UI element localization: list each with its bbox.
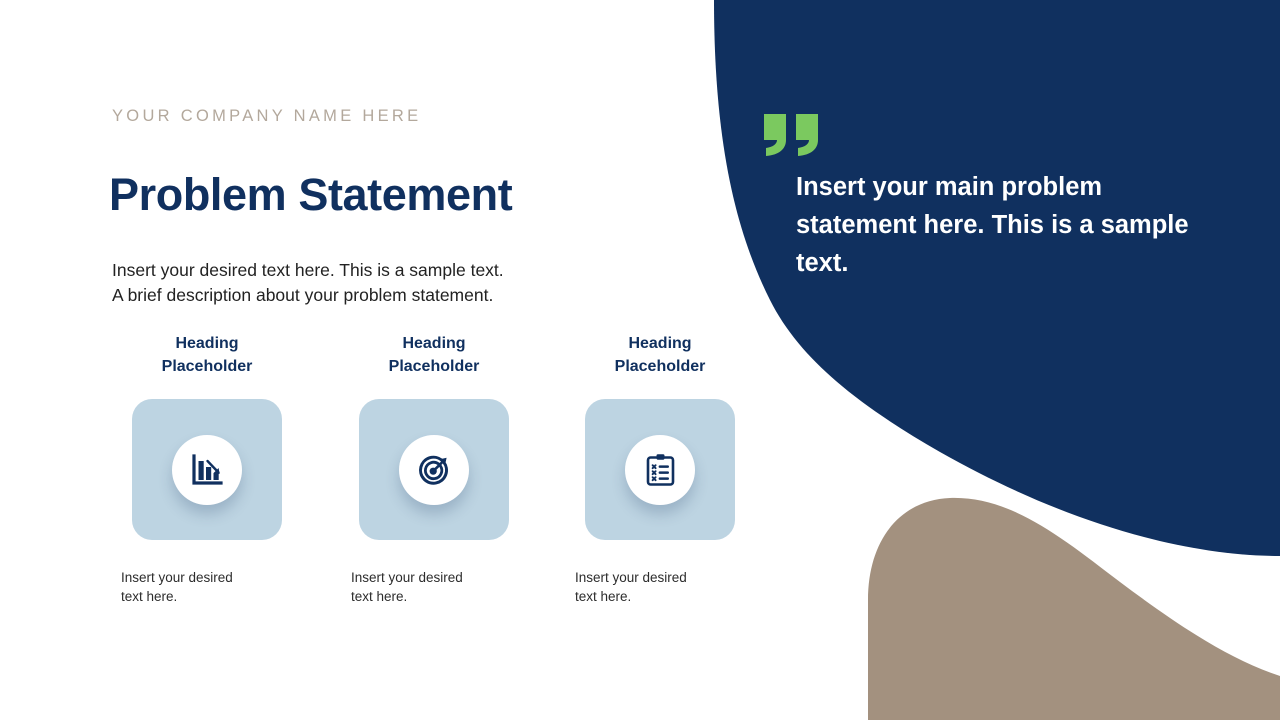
feature-heading: Heading Placeholder [572, 332, 748, 378]
lead-line-2: A brief description about your problem s… [112, 283, 632, 309]
feature-caption-line-1: Insert your desired [351, 568, 501, 587]
declining-bar-chart-icon [190, 453, 224, 487]
feature-caption-line-2: text here. [121, 587, 271, 606]
lead-line-1: Insert your desired text here. This is a… [112, 258, 632, 284]
feature-heading-line-1: Heading [628, 335, 691, 352]
page-title: Problem Statement [109, 169, 512, 221]
open-quote-icon [760, 110, 1190, 158]
feature-caption-line-1: Insert your desired [121, 568, 271, 587]
slide-canvas: YOUR COMPANY NAME HERE Problem Statement… [0, 0, 1280, 720]
quote-text: Insert your main problem statement here.… [796, 168, 1196, 282]
feature-row: Heading Placeholder [112, 332, 732, 612]
feature-card[interactable] [585, 399, 735, 540]
quote-panel: Insert your main problem statement here.… [760, 110, 1190, 282]
feature-heading-line-2: Placeholder [389, 358, 480, 375]
feature-item[interactable]: Heading Placeholder [339, 332, 529, 606]
feature-heading: Heading Placeholder [127, 332, 287, 378]
feature-caption-line-1: Insert your desired [575, 568, 725, 587]
icon-bubble [625, 435, 695, 505]
feature-caption-line-2: text here. [351, 587, 501, 606]
lead-paragraph: Insert your desired text here. This is a… [112, 258, 632, 309]
feature-heading: Heading Placeholder [354, 332, 514, 378]
target-arrow-icon [417, 453, 451, 487]
feature-caption: Insert your desired text here. [121, 568, 271, 606]
feature-heading-line-2: Placeholder [162, 358, 253, 375]
feature-card[interactable] [132, 399, 282, 540]
company-name-eyebrow: YOUR COMPANY NAME HERE [112, 107, 421, 126]
feature-heading-line-1: Heading [175, 335, 238, 352]
icon-bubble [399, 435, 469, 505]
feature-item[interactable]: Heading Placeholder [112, 332, 302, 606]
icon-bubble [172, 435, 242, 505]
feature-caption: Insert your desired text here. [351, 568, 501, 606]
feature-caption: Insert your desired text here. [575, 568, 725, 606]
feature-caption-line-2: text here. [575, 587, 725, 606]
feature-card[interactable] [359, 399, 509, 540]
left-content-column: YOUR COMPANY NAME HERE Problem Statement… [112, 0, 732, 720]
clipboard-checklist-icon [645, 453, 676, 487]
feature-item[interactable]: Heading Placeholder [565, 332, 755, 606]
feature-heading-line-2: Placeholder [615, 358, 706, 375]
feature-heading-line-1: Heading [402, 335, 465, 352]
